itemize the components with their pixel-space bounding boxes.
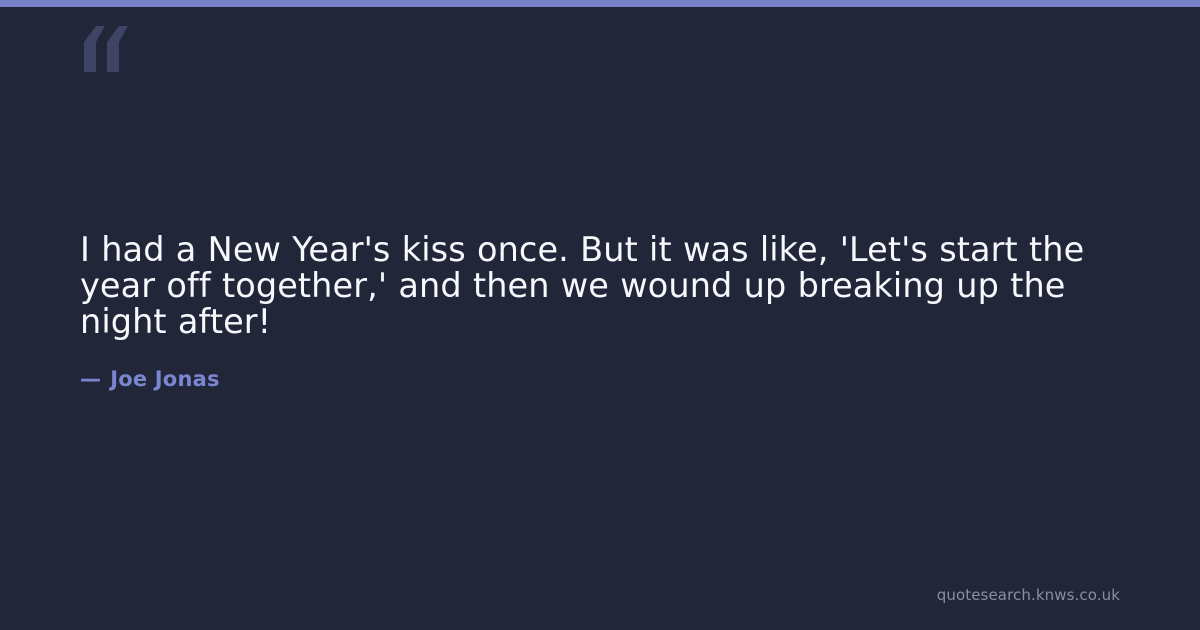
site-watermark: quotesearch.knws.co.uk (937, 586, 1120, 604)
quote-card: I had a New Year's kiss once. But it was… (0, 0, 1200, 630)
quote-text: I had a New Year's kiss once. But it was… (80, 232, 1128, 340)
top-accent-bar (0, 0, 1200, 7)
attribution-dash: — (80, 367, 110, 391)
quote-author: Joe Jonas (110, 367, 219, 391)
quote-attribution: —Joe Jonas (80, 340, 1128, 391)
open-quote-icon (80, 26, 140, 86)
quote-body: I had a New Year's kiss once. But it was… (80, 232, 1128, 391)
